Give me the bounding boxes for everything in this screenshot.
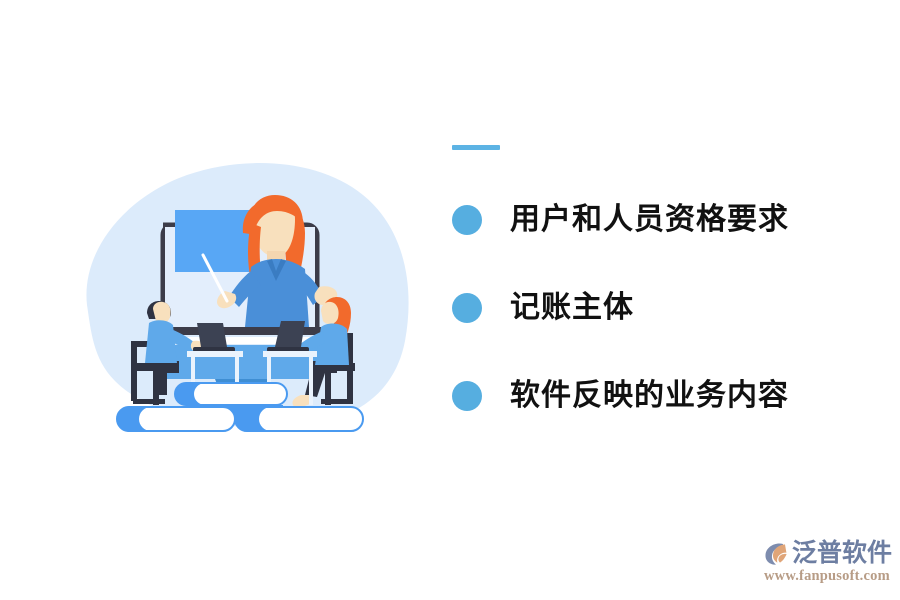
book-stack-lower-left xyxy=(117,407,235,431)
accent-rule xyxy=(452,145,500,150)
bullet-item-3[interactable]: 软件反映的业务内容 xyxy=(452,352,852,440)
bullet-content: 用户和人员资格要求 记账主体 软件反映的业务内容 xyxy=(452,140,852,440)
book-stack-lower-right xyxy=(235,407,363,431)
student-right-desk-top xyxy=(263,351,317,357)
bullet-item-2[interactable]: 记账主体 xyxy=(452,264,852,352)
presentation-slide xyxy=(175,210,255,272)
student-right-face xyxy=(321,302,339,324)
logo-url: www.fanpusoft.com xyxy=(764,569,890,584)
bullet-item-1[interactable]: 用户和人员资格要求 xyxy=(452,176,852,264)
online-class-illustration xyxy=(75,155,425,435)
bullet-dot-icon xyxy=(452,205,482,235)
bullet-list: 用户和人员资格要求 记账主体 软件反映的业务内容 xyxy=(452,176,852,440)
logo-top-row: 泛普软件 xyxy=(762,538,892,568)
bullet-dot-icon xyxy=(452,293,482,323)
brand-logo[interactable]: 泛普软件 www.fanpusoft.com xyxy=(762,538,892,588)
book-stack-upper xyxy=(175,383,287,405)
bullet-dot-icon xyxy=(452,381,482,411)
logo-brand-name: 泛普软件 xyxy=(792,541,892,566)
slide-canvas: 用户和人员资格要求 记账主体 软件反映的业务内容 泛普软件 w xyxy=(0,0,900,600)
bullet-label: 记账主体 xyxy=(510,293,634,323)
fanpu-logo-mark-icon xyxy=(762,539,790,567)
student-left-laptop-screen xyxy=(197,323,227,347)
student-right-desk-leg-b xyxy=(309,357,313,405)
bullet-label: 软件反映的业务内容 xyxy=(510,381,789,411)
bullet-label: 用户和人员资格要求 xyxy=(510,205,789,235)
student-left-desk-top xyxy=(187,351,243,357)
